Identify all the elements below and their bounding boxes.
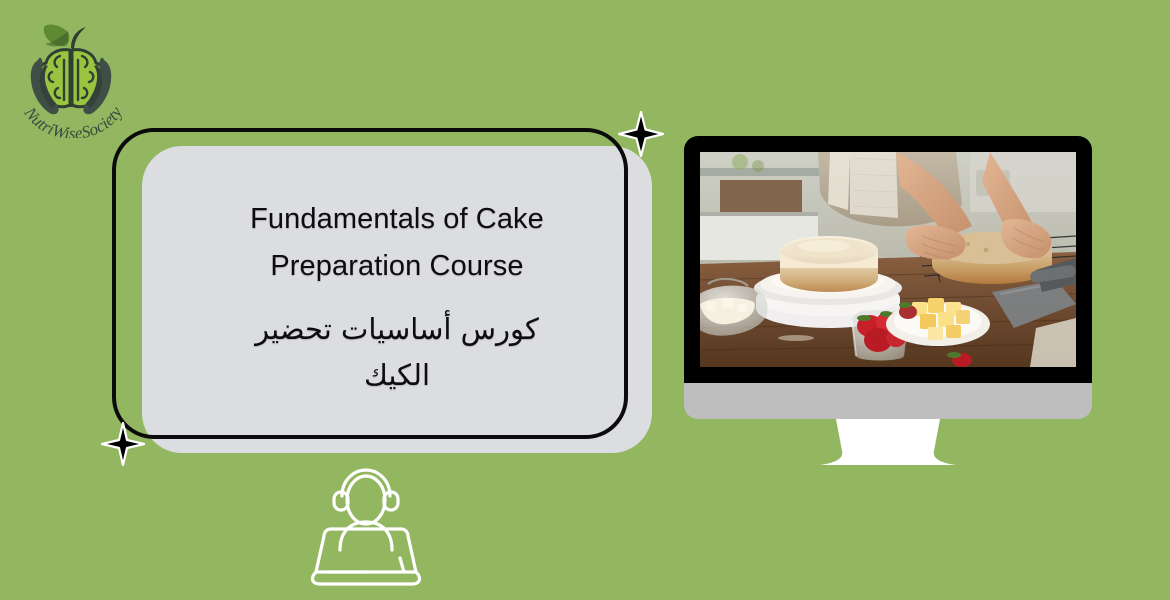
monitor-bezel	[684, 136, 1092, 383]
logo-wordmark: NutriWiseSociety	[20, 103, 126, 138]
sparkle-bottom-left-icon	[101, 422, 145, 466]
course-photo	[700, 152, 1076, 367]
monitor-screen	[700, 152, 1076, 367]
title-card-content: Fundamentals of Cake Preparation Course …	[142, 146, 652, 453]
course-title-english: Fundamentals of Cake Preparation Course	[232, 196, 562, 290]
sparkle-top-right-icon	[618, 111, 664, 157]
sprout-stem-icon	[71, 27, 86, 49]
person-with-headset-at-laptop-icon	[300, 460, 432, 592]
monitor-base	[684, 383, 1092, 419]
desktop-monitor	[684, 136, 1092, 466]
title-card: Fundamentals of Cake Preparation Course …	[112, 128, 652, 453]
poster-canvas: NutriWiseSociety Fundamentals of Cake Pr…	[0, 0, 1170, 600]
course-title-arabic: كورس أساسيات تحضير الكيك	[222, 306, 572, 400]
monitor-stand	[816, 419, 960, 466]
nutriwise-society-logo: NutriWiseSociety	[8, 8, 134, 138]
